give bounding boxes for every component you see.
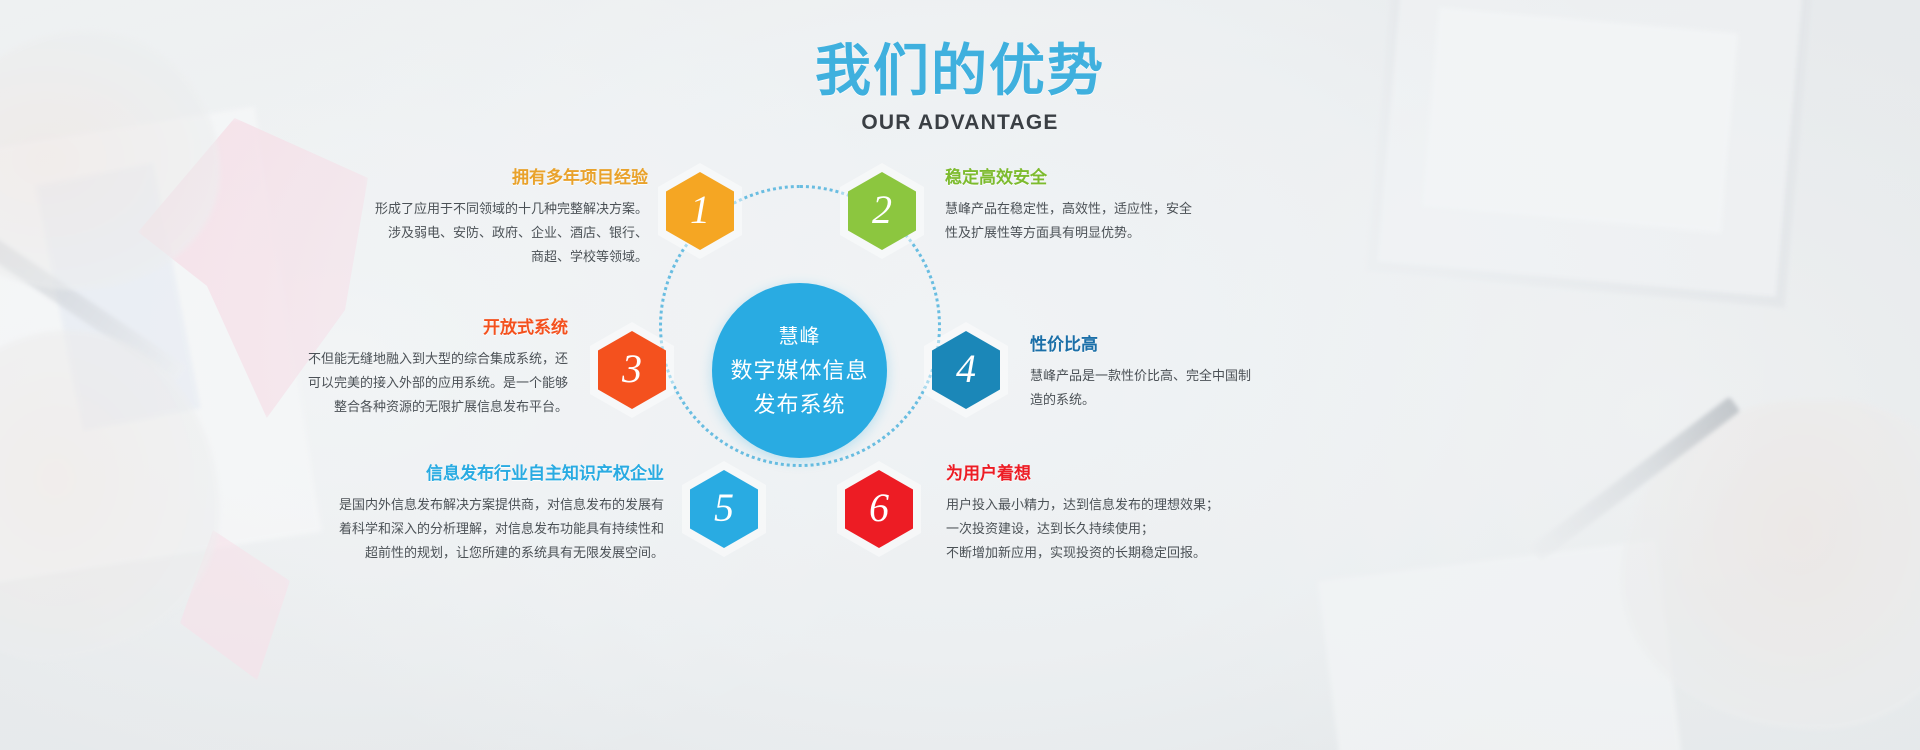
center-line-2: 数字媒体信息 — [730, 354, 868, 388]
center-line-1: 慧峰 — [779, 320, 821, 354]
advantage-body-3-line-2: 可以完美的接入外部的应用系统。是一个能够 — [268, 371, 568, 395]
advantage-title-3: 开放式系统 — [268, 316, 568, 340]
advantage-title-1: 拥有多年项目经验 — [318, 166, 648, 190]
advantage-item-5: 信息发布行业自主知识产权企业 是国内外信息发布解决方案提供商，对信息发布的发展有… — [258, 462, 664, 565]
advantage-body-1-line-3: 商超、学校等领域。 — [318, 245, 648, 269]
advantage-body-2: 慧峰产品在稳定性，高效性，适应性，安全 性及扩展性等方面具有明显优势。 — [945, 197, 1305, 245]
advantage-body-6-line-2: 一次投资建设，达到长久持续使用； — [946, 517, 1326, 541]
hex-number-4: 4 — [956, 349, 976, 389]
section-header: 我们的优势 OUR ADVANTAGE — [0, 38, 1920, 136]
hex-number-6: 6 — [869, 488, 889, 528]
hex-number-1: 1 — [690, 190, 710, 230]
advantage-title-2: 稳定高效安全 — [945, 166, 1305, 190]
advantage-body-1-line-1: 形成了应用于不同领域的十几种完整解决方案。 — [318, 197, 648, 221]
hex-number-2: 2 — [872, 190, 892, 230]
advantage-item-6: 为用户着想 用户投入最小精力，达到信息发布的理想效果； 一次投资建设，达到长久持… — [946, 462, 1326, 565]
advantage-body-6-line-1: 用户投入最小精力，达到信息发布的理想效果； — [946, 493, 1326, 517]
advantage-body-5: 是国内外信息发布解决方案提供商，对信息发布的发展有 着科学和深入的分析理解，对信… — [258, 493, 664, 565]
advantage-body-2-line-2: 性及扩展性等方面具有明显优势。 — [945, 221, 1305, 245]
advantage-body-5-line-1: 是国内外信息发布解决方案提供商，对信息发布的发展有 — [258, 493, 664, 517]
center-circle: 慧峰 数字媒体信息 发布系统 — [712, 283, 887, 458]
advantage-body-3-line-1: 不但能无缝地融入到大型的综合集成系统，还 — [268, 347, 568, 371]
advantage-item-3: 开放式系统 不但能无缝地融入到大型的综合集成系统，还 可以完美的接入外部的应用系… — [268, 316, 568, 419]
advantage-title-5: 信息发布行业自主知识产权企业 — [258, 462, 664, 486]
advantage-item-2: 稳定高效安全 慧峰产品在稳定性，高效性，适应性，安全 性及扩展性等方面具有明显优… — [945, 166, 1305, 245]
advantage-item-4: 性价比高 慧峰产品是一款性价比高、完全中国制 造的系统。 — [1030, 333, 1360, 412]
advantage-body-5-line-3: 超前性的规划，让您所建的系统具有无限发展空间。 — [258, 541, 664, 565]
advantage-body-4-line-1: 慧峰产品是一款性价比高、完全中国制 — [1030, 364, 1360, 388]
page-title: 我们的优势 — [0, 38, 1920, 104]
page-subtitle: OUR ADVANTAGE — [0, 110, 1920, 136]
advantage-title-6: 为用户着想 — [946, 462, 1326, 486]
hex-number-3: 3 — [622, 349, 642, 389]
advantage-body-6: 用户投入最小精力，达到信息发布的理想效果； 一次投资建设，达到长久持续使用； 不… — [946, 493, 1326, 565]
advantage-item-1: 拥有多年项目经验 形成了应用于不同领域的十几种完整解决方案。 涉及弱电、安防、政… — [318, 166, 648, 269]
advantage-title-4: 性价比高 — [1030, 333, 1360, 357]
advantage-body-1: 形成了应用于不同领域的十几种完整解决方案。 涉及弱电、安防、政府、企业、酒店、银… — [318, 197, 648, 269]
hex-number-5: 5 — [714, 488, 734, 528]
advantage-section: 我们的优势 OUR ADVANTAGE 慧峰 数字媒体信息 发布系统 1 2 3… — [0, 0, 1920, 750]
advantage-body-4: 慧峰产品是一款性价比高、完全中国制 造的系统。 — [1030, 364, 1360, 412]
advantage-body-1-line-2: 涉及弱电、安防、政府、企业、酒店、银行、 — [318, 221, 648, 245]
advantage-body-5-line-2: 着科学和深入的分析理解，对信息发布功能具有持续性和 — [258, 517, 664, 541]
center-line-3: 发布系统 — [753, 388, 845, 422]
advantage-body-2-line-1: 慧峰产品在稳定性，高效性，适应性，安全 — [945, 197, 1305, 221]
advantage-body-3-line-3: 整合各种资源的无限扩展信息发布平台。 — [268, 395, 568, 419]
advantage-body-6-line-3: 不断增加新应用，实现投资的长期稳定回报。 — [946, 541, 1326, 565]
advantage-body-3: 不但能无缝地融入到大型的综合集成系统，还 可以完美的接入外部的应用系统。是一个能… — [268, 347, 568, 419]
advantage-body-4-line-2: 造的系统。 — [1030, 388, 1360, 412]
